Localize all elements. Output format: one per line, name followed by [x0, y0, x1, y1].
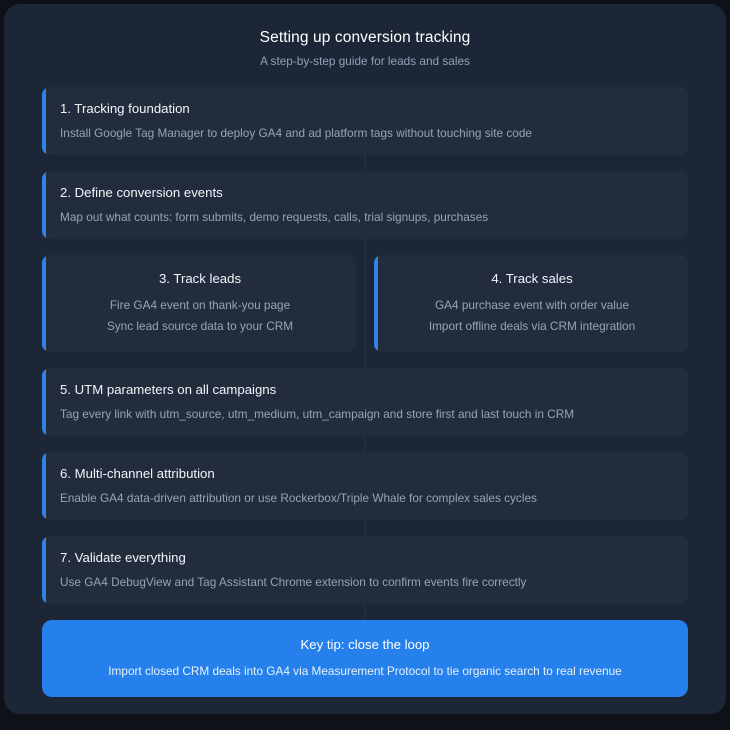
screenshot-canvas: Setting up conversion tracking A step-by…	[0, 0, 730, 730]
step-card-7[interactable]: 7. Validate everything Use GA4 DebugView…	[42, 536, 688, 604]
step-card-title: 5. UTM parameters on all campaigns	[60, 381, 672, 399]
step-card-title: 4. Track sales	[390, 270, 674, 288]
step-flow: 1. Tracking foundation Install Google Ta…	[42, 87, 688, 697]
step-card-1[interactable]: 1. Tracking foundation Install Google Ta…	[42, 87, 688, 155]
step-card-description: Use GA4 DebugView and Tag Assistant Chro…	[60, 574, 672, 590]
step-card-description: Enable GA4 data-driven attribution or us…	[60, 490, 672, 506]
key-tip-banner[interactable]: Key tip: close the loop Import closed CR…	[42, 620, 688, 697]
step-card-description: Tag every link with utm_source, utm_medi…	[60, 406, 672, 422]
step-card-title: 2. Define conversion events	[60, 184, 672, 202]
step-card-description-line1: GA4 purchase event with order value	[390, 297, 674, 313]
step-card-description-line1: Fire GA4 event on thank-you page	[58, 297, 342, 313]
step-card-description: Map out what counts: form submits, demo …	[60, 209, 672, 225]
step-card-description-line2: Import offline deals via CRM integration	[390, 318, 674, 334]
step-card-title: 7. Validate everything	[60, 549, 672, 567]
step-card-title: 3. Track leads	[58, 270, 342, 288]
step-card-2[interactable]: 2. Define conversion events Map out what…	[42, 171, 688, 239]
step-card-3[interactable]: 3. Track leads Fire GA4 event on thank-y…	[42, 255, 356, 352]
key-tip-description: Import closed CRM deals into GA4 via Mea…	[62, 663, 668, 679]
page-subtitle: A step-by-step guide for leads and sales	[42, 54, 688, 69]
step-card-4[interactable]: 4. Track sales GA4 purchase event with o…	[374, 255, 688, 352]
branch-row: 3. Track leads Fire GA4 event on thank-y…	[42, 255, 688, 352]
step-card-title: 1. Tracking foundation	[60, 100, 672, 118]
step-card-description-line2: Sync lead source data to your CRM	[58, 318, 342, 334]
page-title: Setting up conversion tracking	[42, 28, 688, 48]
header: Setting up conversion tracking A step-by…	[42, 28, 688, 69]
step-card-description: Install Google Tag Manager to deploy GA4…	[60, 125, 672, 141]
step-card-6[interactable]: 6. Multi-channel attribution Enable GA4 …	[42, 452, 688, 520]
step-card-title: 6. Multi-channel attribution	[60, 465, 672, 483]
infographic-panel: Setting up conversion tracking A step-by…	[4, 4, 726, 714]
key-tip-title: Key tip: close the loop	[62, 636, 668, 654]
step-card-5[interactable]: 5. UTM parameters on all campaigns Tag e…	[42, 368, 688, 436]
